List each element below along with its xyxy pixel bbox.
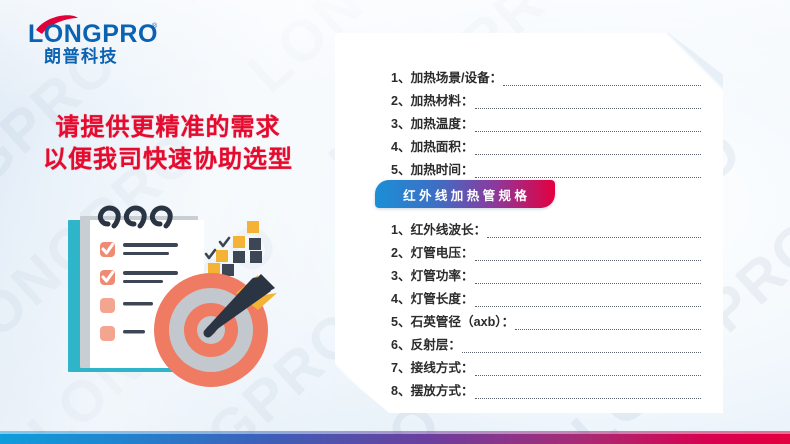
fill-in-line[interactable] — [462, 340, 701, 353]
list-item[interactable]: 1、 红外线波长： — [391, 215, 701, 238]
fill-in-line[interactable] — [487, 225, 701, 238]
list-item[interactable]: 2、 灯管电压： — [391, 238, 701, 261]
item-index: 1、 — [391, 67, 411, 86]
item-index: 6、 — [391, 334, 411, 353]
page-title: 请提供更精准的需求 以便我司快速协助选型 — [0, 112, 336, 176]
list-item[interactable]: 4、 加热面积： — [391, 132, 701, 155]
list-item[interactable]: 6、 反射层： — [391, 330, 701, 353]
fill-in-line[interactable] — [475, 386, 701, 399]
item-index: 4、 — [391, 288, 411, 307]
requirements-list: 1、 加热场景/设备： 2、 加热材料： 3、 加热温度： 4、 加热面积： 5… — [391, 63, 701, 178]
checklist-target-illustration — [58, 190, 338, 430]
item-label: 灯管功率： — [411, 265, 474, 284]
headline-line-2: 以便我司快速协助选型 — [0, 144, 336, 176]
fill-in-line[interactable] — [475, 271, 701, 284]
item-index: 2、 — [391, 90, 411, 109]
item-index: 3、 — [391, 265, 411, 284]
item-index: 5、 — [391, 311, 411, 330]
item-label: 加热面积： — [411, 136, 474, 155]
list-item[interactable]: 3、 加热温度： — [391, 109, 701, 132]
list-item[interactable]: 5、 石英管径（axb）： — [391, 307, 701, 330]
fill-in-line[interactable] — [515, 317, 701, 330]
fill-in-line[interactable] — [475, 165, 701, 178]
item-index: 7、 — [391, 357, 411, 376]
list-item[interactable]: 2、 加热材料： — [391, 86, 701, 109]
list-item[interactable]: 8、 摆放方式： — [391, 376, 701, 399]
list-item[interactable]: 3、 灯管功率： — [391, 261, 701, 284]
item-label: 加热场景/设备： — [411, 67, 503, 86]
fill-in-line[interactable] — [475, 96, 701, 109]
list-item[interactable]: 4、 灯管长度： — [391, 284, 701, 307]
item-index: 3、 — [391, 113, 411, 132]
slide-canvas: LONGPRO LONGPRO LONGPRO LONGPRO LONGPRO … — [0, 0, 790, 444]
fill-in-line[interactable] — [475, 142, 701, 155]
fill-in-line[interactable] — [475, 363, 701, 376]
specs-list: 1、 红外线波长： 2、 灯管电压： 3、 灯管功率： 4、 灯管长度： 5、 — [391, 215, 701, 399]
company-logo: LONGPRO ® 朗普科技 — [24, 14, 174, 68]
svg-text:LONGPRO: LONGPRO — [28, 20, 158, 48]
section-banner-title: 红外线加热管规格 — [400, 185, 531, 204]
item-label: 加热时间： — [411, 159, 474, 178]
item-index: 1、 — [391, 219, 411, 238]
form-panel: 1、 加热场景/设备： 2、 加热材料： 3、 加热温度： 4、 加热面积： 5… — [335, 33, 723, 413]
fill-in-line[interactable] — [475, 294, 701, 307]
item-index: 8、 — [391, 380, 411, 399]
item-index: 2、 — [391, 242, 411, 261]
item-label: 反射层： — [411, 334, 461, 353]
item-label: 摆放方式： — [411, 380, 474, 399]
svg-text:朗普科技: 朗普科技 — [44, 46, 118, 67]
headline-line-1: 请提供更精准的需求 — [0, 112, 336, 144]
watermark-text: LONGPRO — [154, 0, 432, 16]
section-banner: 红外线加热管规格 — [375, 180, 555, 208]
item-label: 接线方式： — [411, 357, 474, 376]
footer-gradient-bar — [0, 434, 790, 444]
list-item[interactable]: 7、 接线方式： — [391, 353, 701, 376]
item-index: 5、 — [391, 159, 411, 178]
item-label: 红外线波长： — [411, 219, 487, 238]
list-item[interactable]: 5、 加热时间： — [391, 155, 701, 178]
squares-cluster — [206, 221, 262, 276]
svg-text:®: ® — [152, 22, 158, 30]
item-label: 灯管长度： — [411, 288, 474, 307]
list-item[interactable]: 1、 加热场景/设备： — [391, 63, 701, 86]
item-label: 加热材料： — [411, 90, 474, 109]
fill-in-line[interactable] — [475, 248, 701, 261]
item-index: 4、 — [391, 136, 411, 155]
item-label: 石英管径（axb）： — [411, 311, 515, 330]
fill-in-line[interactable] — [503, 73, 701, 86]
item-label: 加热温度： — [411, 113, 474, 132]
item-label: 灯管电压： — [411, 242, 474, 261]
fill-in-line[interactable] — [475, 119, 701, 132]
